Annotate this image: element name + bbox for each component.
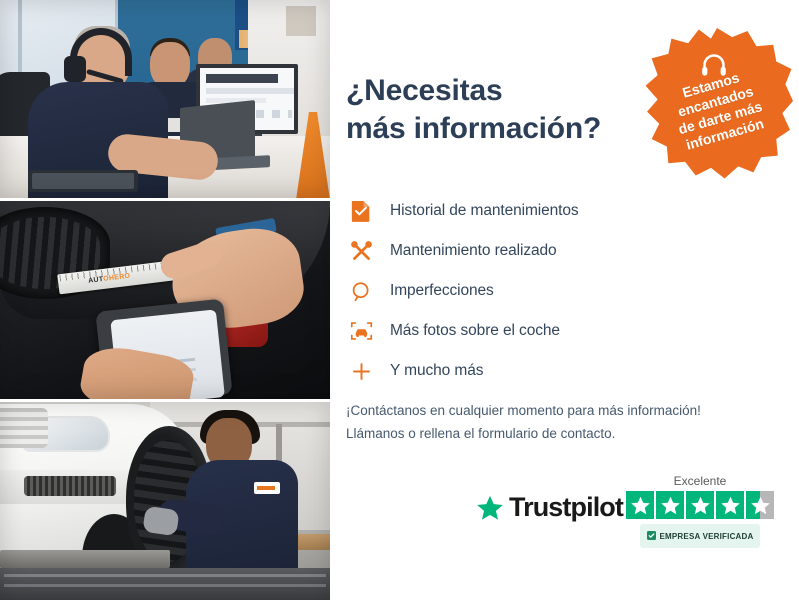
verified-check-icon bbox=[647, 527, 656, 545]
crossed-tools-icon bbox=[346, 236, 376, 266]
car-photo-frame-icon bbox=[346, 316, 376, 346]
trustpilot-logo[interactable]: Trustpilot bbox=[476, 492, 623, 523]
magnifier-icon bbox=[346, 276, 376, 306]
photo-mechanic-inspecting-car-wheel bbox=[0, 402, 330, 600]
verified-label: EMPRESA VERIFICADA bbox=[660, 532, 754, 541]
star-rating bbox=[620, 491, 780, 519]
support-badge: Estamos encantados de darte más informac… bbox=[641, 28, 793, 180]
verified-business-badge: EMPRESA VERIFICADA bbox=[640, 524, 761, 548]
photo-vignette bbox=[0, 0, 330, 198]
photo-vignette bbox=[0, 201, 330, 399]
star-filled-4 bbox=[716, 491, 744, 519]
feature-label: Imperfecciones bbox=[390, 282, 494, 300]
plus-icon bbox=[346, 356, 376, 386]
feature-label: Historial de mantenimientos bbox=[390, 202, 579, 220]
content-panel: ¿Necesitas más información? Estamos enca… bbox=[330, 0, 799, 600]
feature-label: Más fotos sobre el coche bbox=[390, 322, 560, 340]
promo-banner: AUTOHERO bbox=[0, 0, 799, 600]
photo-call-center-agents-with-headsets bbox=[0, 0, 330, 198]
contact-line-1: ¡Contáctanos en cualquier momento para m… bbox=[346, 403, 701, 418]
feature-item-historial: Historial de mantenimientos bbox=[346, 192, 676, 230]
star-filled-2 bbox=[656, 491, 684, 519]
page-title: ¿Necesitas más información? bbox=[346, 72, 601, 149]
feature-label: Y mucho más bbox=[390, 362, 483, 380]
star-half-5 bbox=[746, 491, 774, 519]
trustpilot-wordmark: Trustpilot bbox=[509, 492, 623, 523]
feature-item-mucho-mas: Y mucho más bbox=[346, 352, 676, 390]
headline-line-1: ¿Necesitas bbox=[346, 74, 502, 107]
feature-item-mantenimiento: Mantenimiento realizado bbox=[346, 232, 676, 270]
star-filled-1 bbox=[626, 491, 654, 519]
trustpilot-rating: Excelente bbox=[620, 474, 780, 548]
photo-vignette bbox=[0, 402, 330, 600]
feature-item-imperfecciones: Imperfecciones bbox=[346, 272, 676, 310]
rating-label: Excelente bbox=[620, 474, 780, 488]
contact-text: ¡Contáctanos en cualquier momento para m… bbox=[346, 400, 776, 445]
photo-vehicle-inspection-ruler-and-tablet: AUTOHERO bbox=[0, 201, 330, 399]
contact-line-2: Llámanos o rellena el formulario de cont… bbox=[346, 426, 615, 441]
headline-line-2: más información? bbox=[346, 112, 601, 145]
document-check-icon bbox=[346, 196, 376, 226]
trustpilot-widget[interactable]: Trustpilot Excelente bbox=[476, 474, 776, 550]
star-filled-3 bbox=[686, 491, 714, 519]
feature-item-fotos: Más fotos sobre el coche bbox=[346, 312, 676, 350]
feature-list: Historial de mantenimientos Mantenimient… bbox=[346, 192, 676, 392]
trustpilot-star-icon bbox=[476, 494, 504, 522]
photo-column: AUTOHERO bbox=[0, 0, 330, 600]
feature-label: Mantenimiento realizado bbox=[390, 242, 557, 260]
